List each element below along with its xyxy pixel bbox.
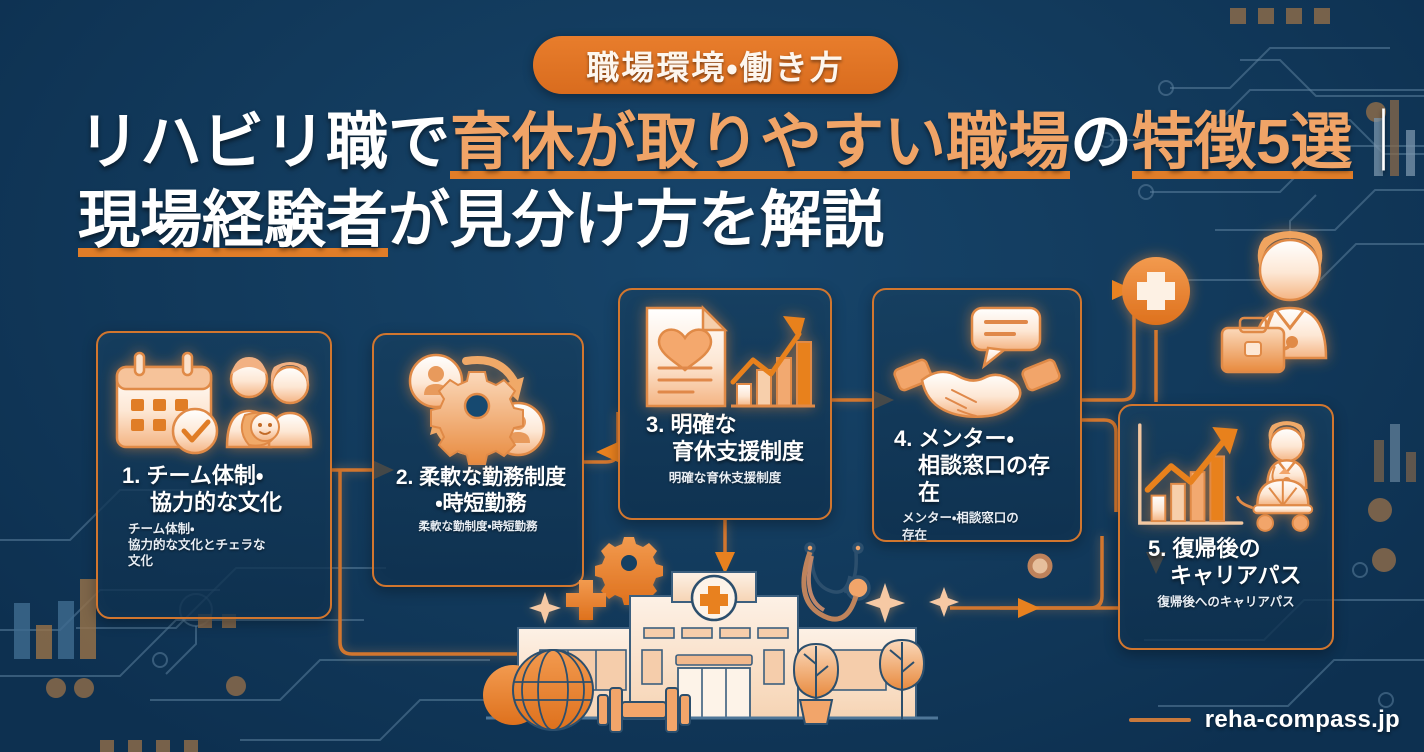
footer-branding: reha-compass.jp (1129, 706, 1400, 734)
infographic-canvas: 職場環境・働き方 リハビリ職で育休が取りやすい職場の特徴5選｜ 現場経験者が見分… (0, 0, 1424, 752)
footer-site-name: reha-compass.jp (1205, 706, 1400, 734)
footer-dash-icon (1129, 718, 1191, 722)
hospital-illustration (0, 0, 1424, 752)
